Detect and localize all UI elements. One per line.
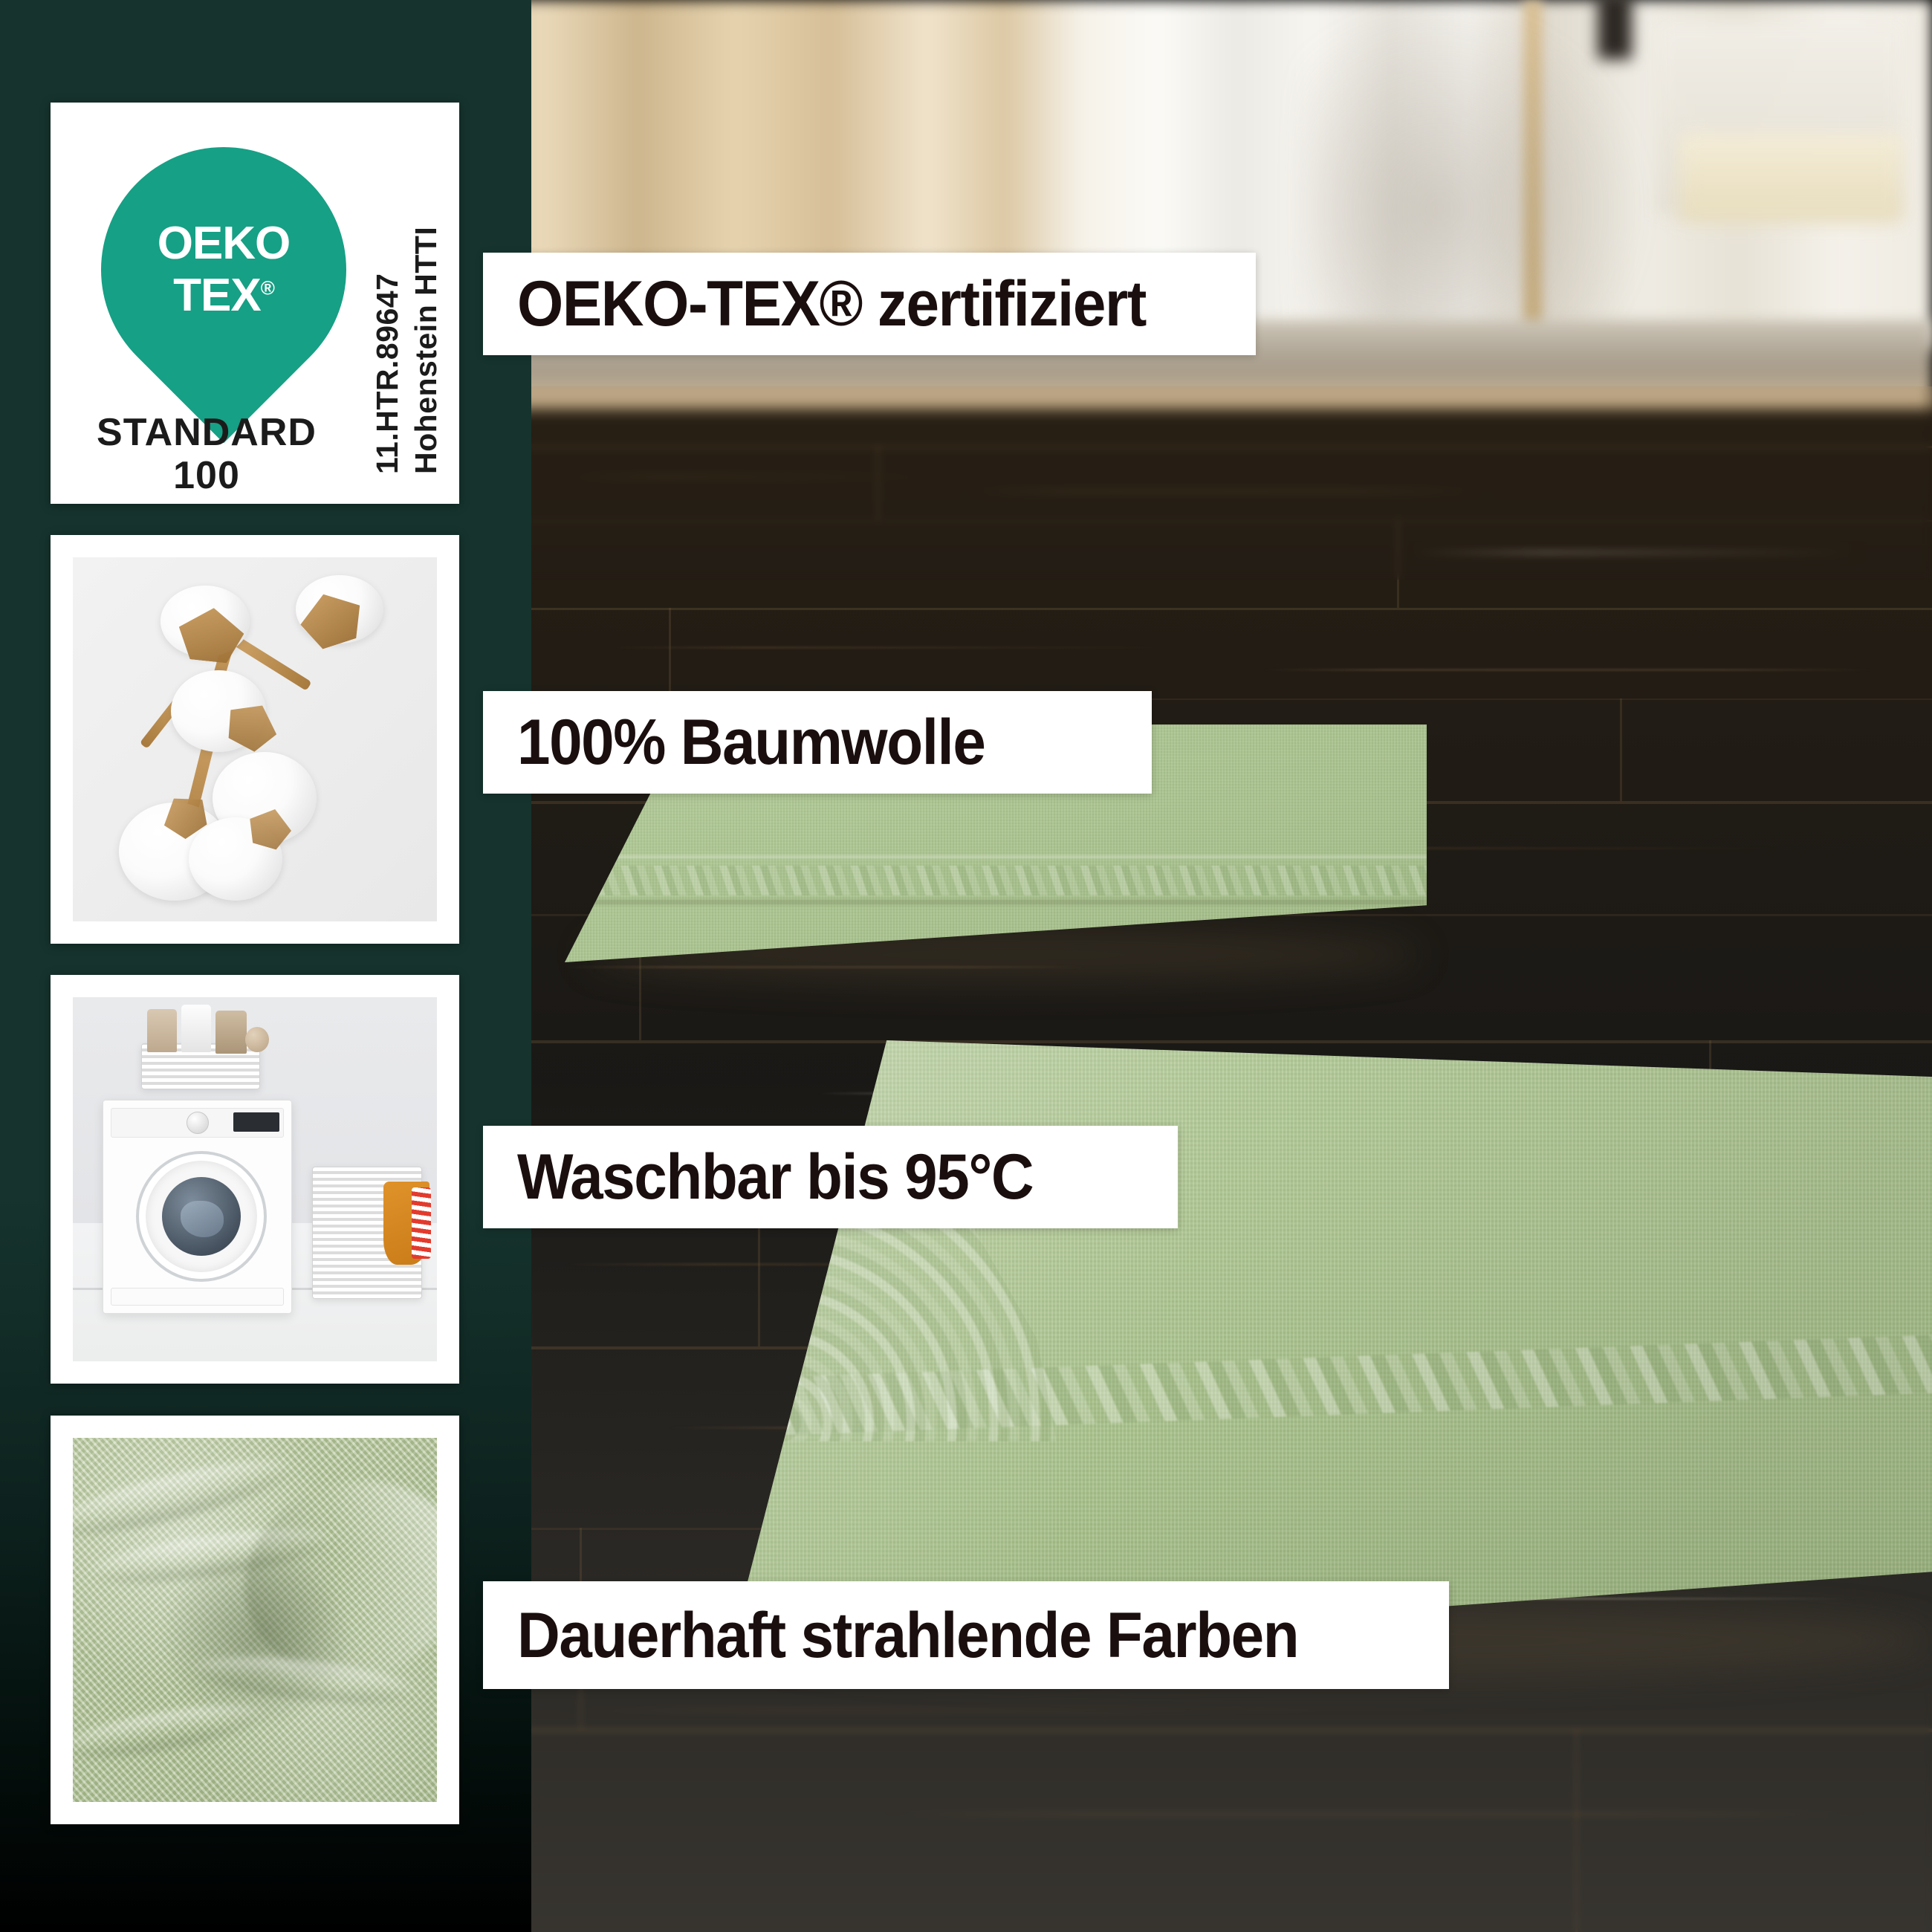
feature-label-colorfast: Dauerhaft strahlende Farben <box>483 1581 1449 1689</box>
oeko-tex-logo-line1: OEKO <box>158 221 291 267</box>
product-infographic: OEKO TEX® STANDARD 100 11.HTR.89647 Hohe… <box>0 0 1932 1932</box>
feature-label-text: Dauerhaft strahlende Farben <box>517 1604 1298 1667</box>
oeko-tex-logo-text: OEKO TEX® <box>101 147 346 392</box>
standard-number: 100 <box>65 454 348 497</box>
feature-label-cotton: 100% Baumwolle <box>483 691 1152 794</box>
wall-shadow <box>1300 0 1650 349</box>
terry-fabric-photo <box>73 1438 437 1802</box>
feature-label-text: Waschbar bis 95°C <box>517 1145 1033 1209</box>
oeko-tex-badge-card: OEKO TEX® STANDARD 100 11.HTR.89647 Hohe… <box>51 103 459 504</box>
washing-machine-photo <box>73 997 437 1361</box>
oeko-tex-logo-line2: TEX® <box>173 273 274 319</box>
washing-machine <box>103 1100 292 1314</box>
feature-label-oeko-tex: OEKO-TEX® zertifiziert <box>483 253 1256 355</box>
feature-label-washable: Waschbar bis 95°C <box>483 1126 1178 1228</box>
feature-label-text: OEKO-TEX® zertifiziert <box>517 272 1146 336</box>
feature-label-text: 100% Baumwolle <box>517 710 985 774</box>
certifying-institute: Hohenstein HTTI <box>409 147 444 474</box>
washing-machine-card <box>51 975 459 1384</box>
terry-fabric-card <box>51 1416 459 1824</box>
cotton-branch-photo <box>73 557 437 921</box>
background-furniture-lower <box>1679 134 1902 223</box>
oeko-tex-standard-text: STANDARD 100 <box>65 411 348 497</box>
certificate-number: 11.HTR.89647 <box>370 147 405 474</box>
feature-panel: OEKO TEX® STANDARD 100 11.HTR.89647 Hohe… <box>0 0 531 1932</box>
standard-label: STANDARD <box>65 411 348 454</box>
cotton-branch-card <box>51 535 459 944</box>
